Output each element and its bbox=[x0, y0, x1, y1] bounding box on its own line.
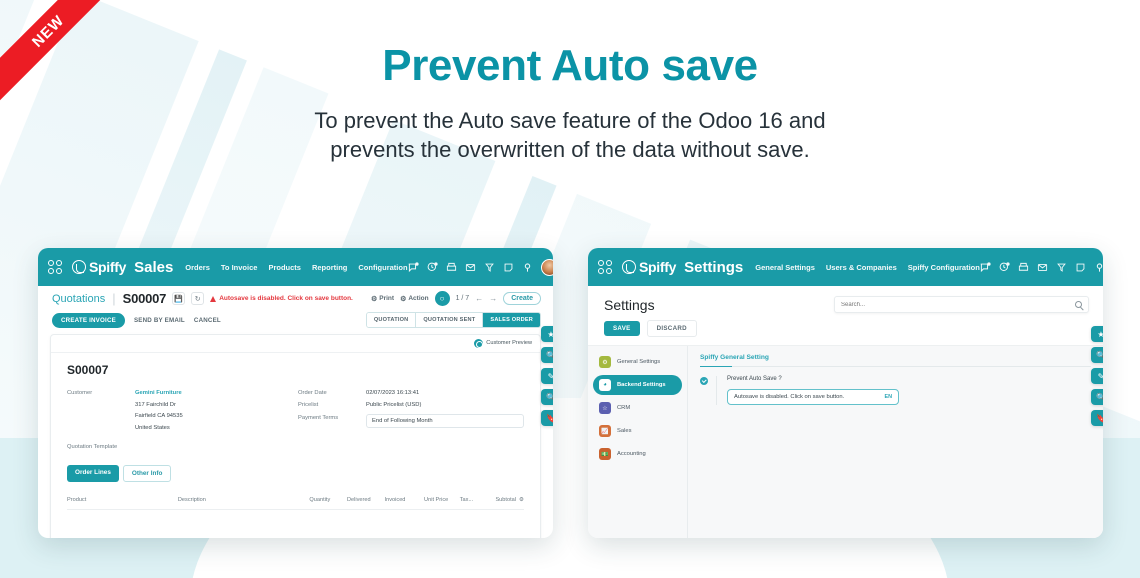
megaphone-icon[interactable] bbox=[484, 262, 495, 273]
sales-breadcrumb-bar: Quotations | S00007 💾 ↻ Autosave is disa… bbox=[38, 286, 553, 309]
autosave-warning: Autosave is disabled. Click on save butt… bbox=[210, 295, 353, 302]
field-value-pricelist[interactable]: Public Pricelist (USD) bbox=[366, 401, 421, 410]
subtitle-line-1: To prevent the Auto save feature of the … bbox=[314, 108, 825, 133]
field-label-payment-terms: Payment Terms bbox=[298, 414, 360, 421]
crm-icon: ☆ bbox=[599, 402, 611, 414]
sidebar-label-general-settings: General Settings bbox=[617, 359, 660, 365]
bookmark-icon[interactable]: 🔖 bbox=[541, 410, 553, 426]
action-button[interactable]: ⚙Action bbox=[400, 295, 429, 303]
subtitle-line-2: prevents the overwritten of the data wit… bbox=[330, 137, 809, 162]
col-tax: Tax... bbox=[460, 497, 496, 503]
order-statusbar: QUOTATION QUOTATION SENT SALES ORDER bbox=[366, 312, 541, 328]
record-controls: ⚙Print ⚙Action ○ 1 / 7 ← → Create bbox=[371, 291, 541, 306]
discard-button[interactable]: DISCARD bbox=[647, 320, 697, 337]
settings-page-title: Settings bbox=[604, 297, 655, 313]
field-pricelist: Pricelist Public Pricelist (USD) bbox=[298, 401, 524, 410]
activities-icon[interactable] bbox=[427, 262, 438, 273]
brand-name: Spiffy bbox=[89, 259, 126, 275]
sales-action-bar: CREATE INVOICE SEND BY EMAIL CANCEL QUOT… bbox=[38, 309, 553, 334]
column-options-icon[interactable]: ⚙ bbox=[519, 497, 524, 503]
autosave-warning-text: Autosave is disabled. Click on save butt… bbox=[219, 295, 353, 302]
sales-app-window: Spiffy Sales Orders To Invoice Products … bbox=[38, 248, 553, 538]
page-subtitle: To prevent the Auto save feature of the … bbox=[0, 106, 1140, 164]
action-button-label: Action bbox=[408, 295, 428, 302]
settings-search-box[interactable] bbox=[834, 296, 1089, 313]
sales-sheet-wrap: Customer Preview S00007 Customer Gemini … bbox=[38, 334, 553, 538]
sheet-top-bar: Customer Preview bbox=[51, 335, 540, 353]
breadcrumb-record: S00007 bbox=[123, 291, 167, 306]
customer-preview-button[interactable]: Customer Preview bbox=[474, 339, 532, 348]
col-unit-price: Unit Price bbox=[424, 497, 460, 503]
settings-menu: General Settings Users & Companies Spiff… bbox=[755, 263, 980, 272]
pin-icon[interactable] bbox=[522, 262, 533, 273]
field-address-street: 317 Fairchild Dr bbox=[67, 401, 274, 410]
sidebar-label-accounting: Accounting bbox=[617, 451, 646, 457]
form-column-right: Order Date 02/07/2023 16:13:41 Pricelist… bbox=[298, 389, 524, 453]
note-icon[interactable] bbox=[1075, 262, 1086, 273]
col-subtotal: Subtotal bbox=[495, 497, 516, 503]
spiffy-icon: ◕ bbox=[599, 379, 611, 391]
mail-icon[interactable] bbox=[1037, 262, 1048, 273]
settings-app-window: Spiffy Settings General Settings Users &… bbox=[588, 248, 1103, 538]
menu-item-general-settings[interactable]: General Settings bbox=[755, 263, 815, 272]
col-delivered: Delivered bbox=[347, 497, 385, 503]
sales-navbar: Spiffy Sales Orders To Invoice Products … bbox=[38, 248, 553, 286]
menu-item-users-companies[interactable]: Users & Companies bbox=[826, 263, 897, 272]
spiffy-logo-icon bbox=[72, 260, 86, 274]
user-avatar[interactable] bbox=[541, 259, 553, 276]
sales-side-toolbar: ★ 🔍 ✎ 🔍 🔖 bbox=[541, 326, 553, 426]
pager-count: 1 / 7 bbox=[456, 295, 470, 302]
gear-icon: ⚙ bbox=[599, 356, 611, 368]
accounting-icon: 💵 bbox=[599, 448, 611, 460]
status-sales-order[interactable]: SALES ORDER bbox=[483, 313, 540, 327]
sales-icon: 📈 bbox=[599, 425, 611, 437]
pin-icon[interactable] bbox=[1094, 262, 1103, 273]
settings-header: Settings bbox=[588, 286, 1103, 313]
search-icon[interactable]: 🔍 bbox=[541, 347, 553, 363]
star-icon[interactable]: ★ bbox=[1091, 326, 1103, 342]
order-lines-table-header: Product Description Quantity Delivered I… bbox=[67, 492, 524, 510]
cancel-button[interactable]: CANCEL bbox=[194, 317, 221, 324]
sales-menu: Orders To Invoice Products Reporting Con… bbox=[185, 263, 407, 272]
brand-name: Spiffy bbox=[639, 259, 676, 275]
record-title: S00007 bbox=[67, 363, 524, 377]
page-title: Prevent Auto save bbox=[0, 42, 1140, 90]
create-button[interactable]: Create bbox=[503, 292, 541, 305]
menu-item-products[interactable]: Products bbox=[268, 263, 301, 272]
brand-logo[interactable]: Spiffy bbox=[72, 259, 126, 275]
messages-icon[interactable] bbox=[980, 262, 991, 273]
note-icon[interactable] bbox=[503, 262, 514, 273]
pager-next-button[interactable]: → bbox=[489, 294, 497, 303]
warning-triangle-icon bbox=[210, 296, 216, 302]
send-by-email-button[interactable]: SEND BY EMAIL bbox=[134, 317, 185, 324]
tab-order-lines[interactable]: Order Lines bbox=[67, 465, 119, 482]
settings-main-panel: Spiffy General Setting Prevent Auto Save… bbox=[688, 346, 1103, 538]
field-label-quotation-template: Quotation Template bbox=[67, 443, 117, 450]
brand-logo[interactable]: Spiffy bbox=[622, 259, 676, 275]
printer-icon: ⚙ bbox=[371, 295, 377, 303]
sidebar-label-crm: CRM bbox=[617, 405, 630, 411]
sidebar-item-backend-settings[interactable]: ◕ Backend Settings bbox=[593, 375, 682, 395]
settings-body: ⚙ General Settings ◕ Backend Settings ☆ … bbox=[588, 345, 1103, 538]
prevent-auto-save-label: Prevent Auto Save ? bbox=[727, 376, 899, 382]
sidebar-item-crm[interactable]: ☆ CRM bbox=[593, 398, 682, 418]
settings-action-bar: SAVE DISCARD bbox=[588, 313, 1103, 345]
star-icon[interactable]: ★ bbox=[541, 326, 553, 342]
sheet-body: S00007 Customer Gemini Furniture 317 Fai… bbox=[51, 353, 540, 538]
address-city: Fairfield CA 94535 bbox=[135, 412, 183, 421]
menu-item-orders[interactable]: Orders bbox=[185, 263, 210, 272]
col-quantity: Quantity bbox=[309, 497, 347, 503]
tab-other-info[interactable]: Other Info bbox=[123, 465, 172, 482]
order-form: Customer Gemini Furniture 317 Fairchild … bbox=[67, 389, 524, 453]
pager-prev-button[interactable]: ← bbox=[475, 294, 483, 303]
new-badge: NEW bbox=[0, 0, 120, 120]
field-value-order-date[interactable]: 02/07/2023 16:13:41 bbox=[366, 389, 419, 398]
refresh-button[interactable]: ○ bbox=[435, 291, 450, 306]
zoom-icon[interactable]: 🔍 bbox=[541, 389, 553, 405]
field-address-country: United States bbox=[67, 424, 274, 433]
prevent-auto-save-details: Prevent Auto Save ? Autosave is disabled… bbox=[716, 376, 899, 405]
print-button[interactable]: ⚙Print bbox=[371, 295, 394, 303]
megaphone-icon[interactable] bbox=[1056, 262, 1067, 273]
create-invoice-button[interactable]: CREATE INVOICE bbox=[52, 313, 125, 328]
autosave-message-value: Autosave is disabled. Click on save butt… bbox=[734, 394, 844, 400]
settings-side-toolbar: ★ 🔍 ✎ 🔍 🔖 bbox=[1091, 326, 1103, 426]
sheet-tabs: Order Lines Other Info bbox=[67, 465, 524, 482]
status-quotation[interactable]: QUOTATION bbox=[367, 313, 417, 327]
menu-item-configuration[interactable]: Configuration bbox=[358, 263, 407, 272]
customer-preview-label: Customer Preview bbox=[486, 340, 532, 347]
sidebar-label-backend-settings: Backend Settings bbox=[617, 382, 666, 388]
menu-item-reporting[interactable]: Reporting bbox=[312, 263, 347, 272]
prevent-auto-save-checkbox[interactable] bbox=[700, 377, 708, 385]
col-description: Description bbox=[178, 497, 310, 503]
col-invoiced: Invoiced bbox=[385, 497, 424, 503]
edit-pencil-icon[interactable]: ✎ bbox=[541, 368, 553, 384]
mail-icon[interactable] bbox=[465, 262, 476, 273]
sidebar-label-sales: Sales bbox=[617, 428, 632, 434]
spiffy-logo-icon bbox=[622, 260, 636, 274]
print-button-label: Print bbox=[379, 295, 394, 302]
col-product: Product bbox=[67, 497, 178, 503]
field-label-order-date: Order Date bbox=[298, 389, 360, 396]
menu-item-to-invoice[interactable]: To Invoice bbox=[221, 263, 258, 272]
settings-navbar-icons bbox=[980, 259, 1103, 276]
messages-icon[interactable] bbox=[408, 262, 419, 273]
save-button[interactable]: SAVE bbox=[604, 321, 640, 336]
status-quotation-sent[interactable]: QUOTATION SENT bbox=[416, 313, 483, 327]
gear-icon: ⚙ bbox=[400, 295, 406, 303]
language-badge[interactable]: EN bbox=[885, 394, 893, 400]
sales-sheet: Customer Preview S00007 Customer Gemini … bbox=[50, 334, 541, 538]
discard-icon[interactable]: ↻ bbox=[191, 292, 204, 305]
field-label-pricelist: Pricelist bbox=[298, 401, 360, 408]
apps-grid-icon[interactable] bbox=[598, 260, 612, 274]
breadcrumb-parent[interactable]: Quotations bbox=[52, 293, 105, 305]
new-badge-label: NEW bbox=[0, 0, 120, 105]
breadcrumb-separator: | bbox=[112, 291, 115, 306]
address-street: 317 Fairchild Dr bbox=[135, 401, 176, 410]
address-country: United States bbox=[135, 424, 170, 433]
sidebar-item-general-settings[interactable]: ⚙ General Settings bbox=[593, 352, 682, 372]
field-payment-terms: Payment Terms End of Following Month bbox=[298, 414, 524, 428]
menu-item-spiffy-configuration[interactable]: Spiffy Configuration bbox=[908, 263, 980, 272]
settings-sidebar: ⚙ General Settings ◕ Backend Settings ☆ … bbox=[588, 346, 688, 538]
activities-icon[interactable] bbox=[999, 262, 1010, 273]
sidebar-item-sales[interactable]: 📈 Sales bbox=[593, 421, 682, 441]
search-icon[interactable] bbox=[1075, 301, 1082, 308]
field-address-city: Fairfield CA 94535 bbox=[67, 412, 274, 421]
section-title-spiffy-general-setting: Spiffy General Setting bbox=[700, 354, 1091, 367]
sidebar-item-accounting[interactable]: 💵 Accounting bbox=[593, 444, 682, 464]
headline: Prevent Auto save To prevent the Auto sa… bbox=[0, 42, 1140, 164]
zoom-icon[interactable]: 🔍 bbox=[1091, 389, 1103, 405]
autosave-message-input[interactable]: Autosave is disabled. Click on save butt… bbox=[727, 389, 899, 405]
search-input[interactable] bbox=[841, 302, 1075, 308]
print-icon[interactable] bbox=[446, 262, 457, 273]
field-quotation-template: Quotation Template bbox=[67, 443, 274, 450]
sales-navbar-icons bbox=[408, 259, 553, 276]
prevent-auto-save-option: Prevent Auto Save ? Autosave is disabled… bbox=[700, 376, 1091, 405]
bookmark-icon[interactable]: 🔖 bbox=[1091, 410, 1103, 426]
apps-grid-icon[interactable] bbox=[48, 260, 62, 274]
order-lines-rows bbox=[67, 510, 524, 538]
form-column-left: Customer Gemini Furniture 317 Fairchild … bbox=[67, 389, 274, 453]
print-icon[interactable] bbox=[1018, 262, 1029, 273]
globe-icon bbox=[474, 339, 483, 348]
payment-terms-input[interactable]: End of Following Month bbox=[366, 414, 524, 428]
field-customer: Customer Gemini Furniture bbox=[67, 389, 274, 398]
settings-navbar: Spiffy Settings General Settings Users &… bbox=[588, 248, 1103, 286]
app-name: Sales bbox=[134, 259, 173, 276]
field-value-customer[interactable]: Gemini Furniture bbox=[135, 389, 182, 398]
edit-pencil-icon[interactable]: ✎ bbox=[1091, 368, 1103, 384]
field-label-customer: Customer bbox=[67, 389, 129, 396]
field-order-date: Order Date 02/07/2023 16:13:41 bbox=[298, 389, 524, 398]
save-icon[interactable]: 💾 bbox=[172, 292, 185, 305]
search-icon[interactable]: 🔍 bbox=[1091, 347, 1103, 363]
app-name: Settings bbox=[684, 259, 743, 276]
